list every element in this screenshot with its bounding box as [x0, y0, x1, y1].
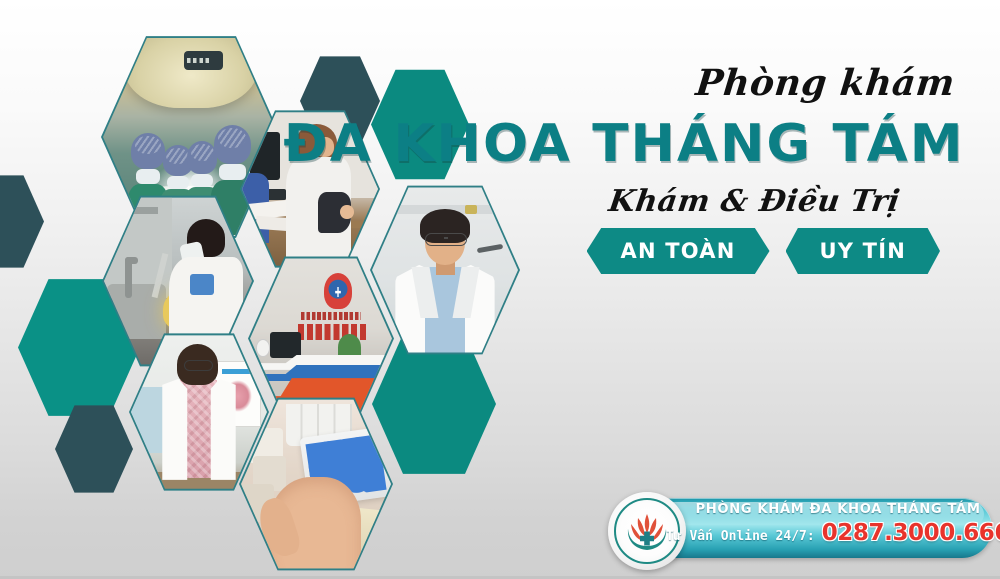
chip-an-toan[interactable]: AN TOÀN	[587, 228, 770, 274]
hex-dark-left	[0, 174, 44, 269]
badge-text: PHÒNG KHÁM ĐA KHOA THÁNG TÁM Tư Vấn Onli…	[690, 502, 986, 546]
page-title: ĐA KHOA THÁNG TÁM	[283, 114, 964, 174]
badge-consult-label: Tư Vấn Online 24/7:	[666, 529, 815, 544]
clinic-banner: Phòng khám ĐA KHOA THÁNG TÁM Khám & Điều…	[0, 0, 1000, 579]
photo-doctor-portrait	[370, 183, 520, 357]
badge-clinic-name: PHÒNG KHÁM ĐA KHOA THÁNG TÁM	[690, 502, 986, 517]
feature-chips: AN TOÀN UY TÍN	[587, 228, 940, 274]
chip-uy-tin[interactable]: UY TÍN	[786, 228, 940, 274]
headline-eyebrow: Phòng khám	[694, 62, 957, 104]
badge-phone-number[interactable]: 0287.3000.666	[822, 520, 1000, 546]
headline-subtitle: Khám & Điều Trị	[607, 184, 903, 219]
contact-badge[interactable]: PHÒNG KHÁM ĐA KHOA THÁNG TÁM Tư Vấn Onli…	[608, 492, 992, 566]
hex-dark-lower	[55, 404, 133, 494]
photo-reception-desk	[248, 254, 394, 423]
